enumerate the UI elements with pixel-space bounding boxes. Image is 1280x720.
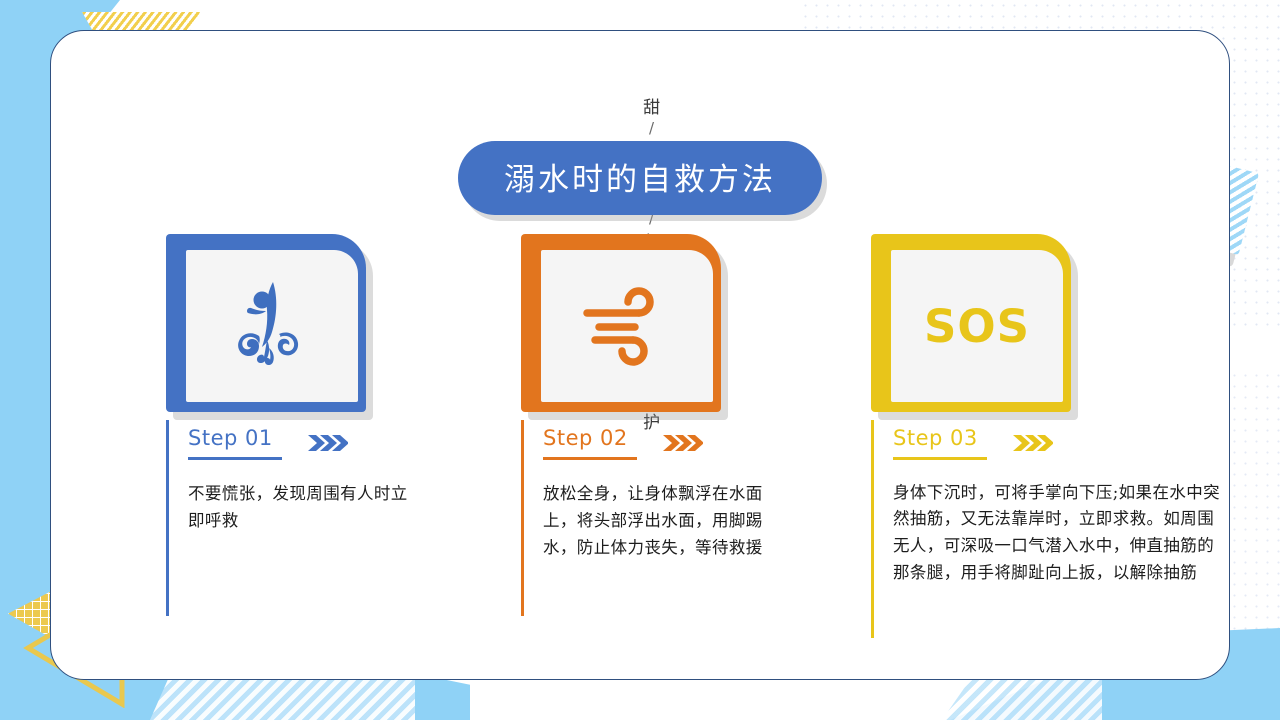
chevron-triple-icon — [663, 433, 703, 453]
step-3-text: 身体下沉时，可将手掌向下压;如果在水中突然抽筋，又无法靠岸时，立即求救。如周围无… — [893, 480, 1226, 587]
step-1-flag — [166, 234, 366, 412]
step-2-label: Step 02 — [543, 426, 635, 455]
kicker-sep-0: / — [649, 119, 655, 137]
step-card-1[interactable]: Step 01 不要慌张，发现周围有人时立即呼救 — [166, 234, 416, 534]
step-1-label: Step 01 — [188, 426, 280, 455]
step-3-icon-box: SOS — [891, 250, 1063, 402]
step-2-text: 放松全身，让身体飘浮在水面上，将头部浮出水面，用脚踢水，防止体力丧失，等待救援 — [543, 480, 771, 562]
page-title: 溺水时的自救方法 — [458, 141, 822, 215]
chevron-triple-icon — [1013, 433, 1053, 453]
step-2-underline — [543, 457, 637, 460]
striped-band-bottom-right — [942, 674, 1102, 720]
step-1-left-rule — [166, 420, 169, 616]
step-3-body: Step 03 身体下沉时，可将手掌向下压;如果在水中突然抽 — [871, 426, 1226, 586]
step-2-label-row: Step 02 — [543, 426, 771, 460]
step-1-body: Step 01 不要慌张，发现周围有人时立即呼救 — [166, 426, 416, 534]
steps-container: Step 01 不要慌张，发现周围有人时立即呼救 — [111, 234, 1189, 664]
wind-icon — [577, 283, 677, 369]
step-2-left-rule — [521, 420, 524, 616]
swimmer-icon — [229, 278, 315, 374]
sos-icon: SOS — [924, 300, 1030, 353]
step-card-2[interactable]: Step 02 放松全身，让身体飘浮在水面上，将头部浮出水面 — [521, 234, 771, 562]
step-2-flag — [521, 234, 721, 412]
chevron-triple-icon — [308, 433, 348, 453]
step-3-flag: SOS — [871, 234, 1071, 412]
step-2-icon-box — [541, 250, 713, 402]
slide-card: 甜 / 蜜 / 童 / 年 共 / 同 / 守 / 护 溺水时的自救方法 — [50, 30, 1230, 680]
step-3-underline — [893, 457, 987, 460]
step-2-body: Step 02 放松全身，让身体飘浮在水面上，将头部浮出水面 — [521, 426, 771, 562]
step-1-label-row: Step 01 — [188, 426, 416, 460]
step-3-label-row: Step 03 — [893, 426, 1226, 460]
step-1-icon-box — [186, 250, 358, 402]
step-card-3[interactable]: SOS Step 03 — [871, 234, 1226, 586]
step-3-label: Step 03 — [893, 426, 985, 455]
step-1-text: 不要慌张，发现周围有人时立即呼救 — [188, 480, 416, 535]
step-3-left-rule — [871, 420, 874, 638]
step-1-underline — [188, 457, 282, 460]
kicker-char-0: 甜 — [643, 93, 661, 118]
